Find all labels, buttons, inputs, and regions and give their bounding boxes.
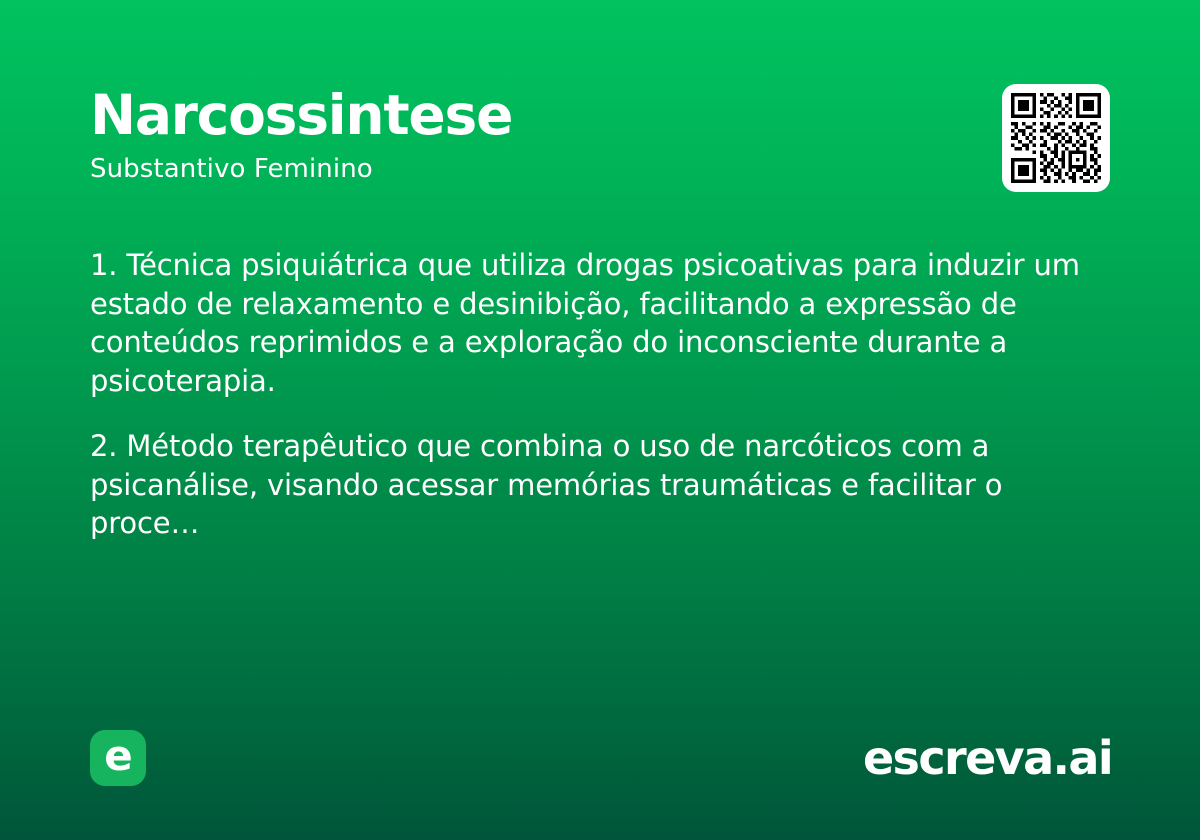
logo-letter: e <box>104 735 132 777</box>
definition-item: 2. Método terapêutico que combina o uso … <box>90 427 1112 543</box>
qr-code[interactable] <box>1002 84 1110 192</box>
escreva-logo-badge[interactable]: e <box>90 730 146 786</box>
definition-item: 1. Técnica psiquiátrica que utiliza drog… <box>90 246 1112 400</box>
word-class-label: Substantivo Feminino <box>90 154 512 185</box>
heading-group: Narcossintese Substantivo Feminino <box>90 84 512 186</box>
brand-wordmark: escreva.ai <box>863 735 1112 781</box>
card-footer: e escreva.ai <box>90 728 1112 788</box>
definition-card: Narcossintese Substantivo Feminino <box>0 0 1200 840</box>
definition-list: 1. Técnica psiquiátrica que utiliza drog… <box>90 246 1112 543</box>
card-header: Narcossintese Substantivo Feminino <box>90 84 1110 192</box>
page-title: Narcossintese <box>90 86 512 145</box>
